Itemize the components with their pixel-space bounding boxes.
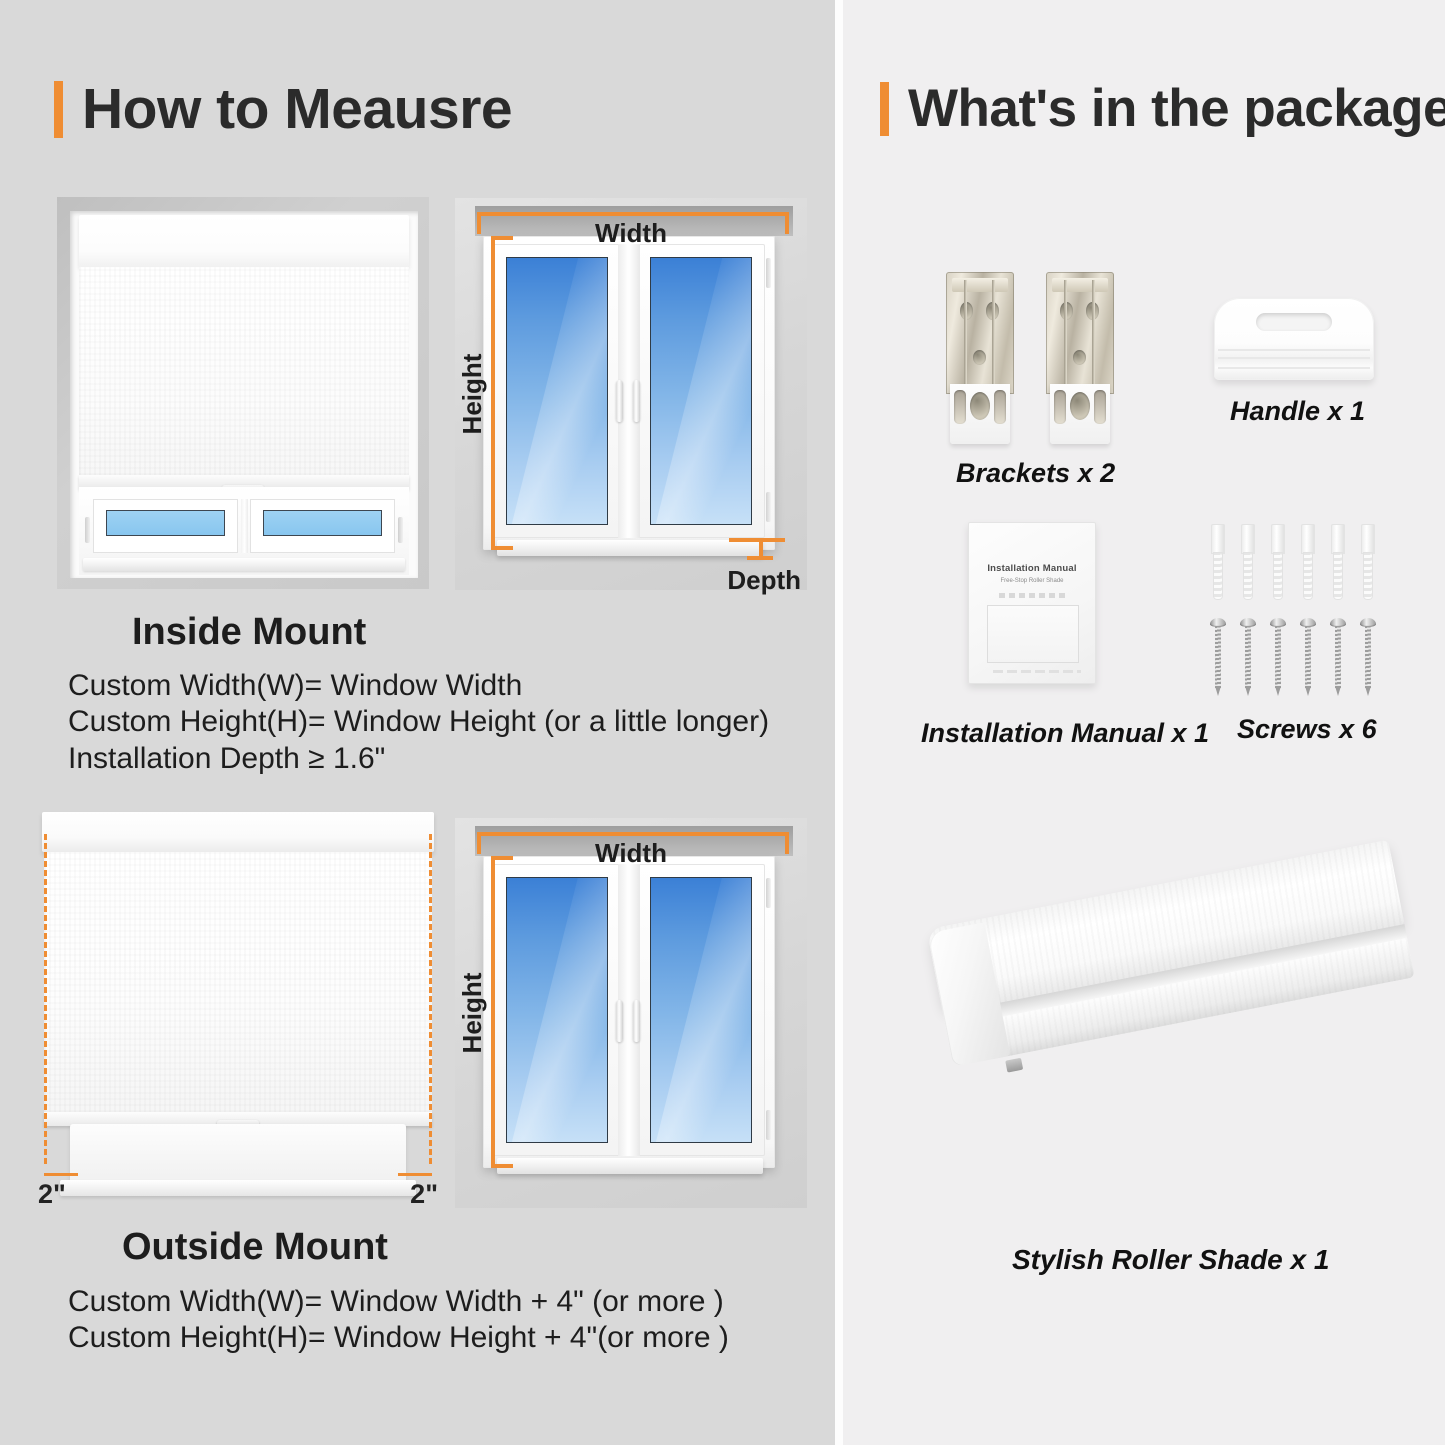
bracket-metal-body	[1046, 272, 1114, 394]
wall-anchor	[1330, 524, 1346, 600]
wall-anchor	[1270, 524, 1286, 600]
window-glass-left	[106, 510, 225, 536]
height-measure-line	[491, 236, 495, 550]
height-label: Height	[457, 354, 488, 435]
height-measure-cap-top	[491, 856, 513, 860]
bracket-hole	[973, 350, 986, 365]
outside-mount-measurement-diagram: Width Height	[455, 818, 807, 1208]
inside-mount-title: Inside Mount	[132, 611, 366, 654]
roller-shade-body	[927, 840, 1417, 1077]
window-sill	[60, 1180, 416, 1196]
overhang-label-right: 2"	[410, 1179, 438, 1210]
inside-mount-measurement-diagram: Width Height Depth	[455, 198, 807, 590]
outside-mount-title: Outside Mount	[122, 1226, 388, 1269]
shade-valance	[79, 215, 409, 267]
depth-label: Depth	[727, 565, 801, 596]
infographic-page: How to Meausre	[0, 0, 1445, 1445]
height-measure-cap-top	[491, 236, 513, 240]
height-measure-cap-bottom	[491, 1164, 513, 1168]
bracket-slot	[1054, 390, 1066, 424]
bracket-rib	[964, 280, 967, 384]
inside-mount-line-1: Custom Width(W)= Window Width	[68, 668, 769, 704]
panel-divider	[835, 0, 843, 1445]
window-sill	[83, 558, 405, 571]
overhang-measure-right	[398, 1173, 432, 1176]
window-hinge-bottom-icon	[766, 492, 771, 522]
width-measure-cap-right	[785, 832, 789, 854]
window-sash-left	[93, 499, 238, 553]
package-heading: What's in the package	[880, 78, 1445, 139]
bracket-slot	[1094, 390, 1106, 424]
brackets-image	[946, 272, 1126, 447]
handle-ridge	[1218, 349, 1370, 351]
window-glass-right	[263, 510, 382, 536]
inside-mount-line-2: Custom Height(H)= Window Height (or a li…	[68, 704, 769, 740]
brackets-label: Brackets x 2	[956, 458, 1115, 489]
screw	[1240, 618, 1256, 696]
window-handle-left[interactable]	[616, 380, 623, 422]
window-hinge-top-icon	[766, 258, 771, 288]
accent-bar-icon	[54, 81, 63, 138]
window-sash-right	[250, 499, 395, 553]
window-glass-left	[506, 877, 608, 1143]
how-to-measure-panel: How to Meausre	[0, 0, 835, 1445]
handle-label: Handle x 1	[1230, 396, 1365, 427]
screws-label: Screws x 6	[1237, 714, 1377, 745]
overhang-guide-left	[44, 834, 47, 1164]
width-label: Width	[595, 838, 667, 869]
bracket-rib	[1064, 280, 1067, 384]
roller-shade-image	[913, 890, 1423, 1190]
bracket-hole	[970, 392, 990, 420]
how-to-measure-heading: How to Meausre	[54, 76, 512, 142]
bracket-metal-body	[946, 272, 1014, 394]
handle-image	[1214, 298, 1374, 380]
accent-bar-icon	[880, 82, 889, 136]
screw	[1360, 618, 1376, 696]
handle-grip-slot	[1256, 313, 1333, 331]
window-sash-right	[637, 244, 765, 538]
package-contents-panel: What's in the package	[843, 0, 1445, 1445]
width-measure-cap-left	[477, 832, 481, 854]
overhang-guide-right	[429, 834, 432, 1164]
bracket-hole	[1073, 350, 1086, 365]
shade-fabric	[79, 267, 409, 487]
manual-cover-subtitle: Free-Stop Roller Shade	[977, 578, 1087, 584]
bracket-slot	[954, 390, 966, 424]
window-behind-shade	[70, 1124, 406, 1186]
height-measure-cap-bottom	[491, 546, 513, 550]
package-title: What's in the package	[908, 78, 1445, 139]
window-handle-right[interactable]	[633, 1000, 640, 1042]
window-glass-left	[506, 257, 608, 525]
bracket-rib	[992, 280, 995, 384]
bracket-plastic-base	[950, 384, 1010, 444]
wall-anchor	[1210, 524, 1226, 600]
manual-cover-diagram	[987, 605, 1079, 663]
inside-mount-shade-illustration	[57, 197, 429, 589]
screw	[1270, 618, 1286, 696]
outside-mount-shade-illustration: 2" 2"	[36, 812, 440, 1204]
manual-cover: Installation Manual Free-Stop Roller Sha…	[968, 522, 1096, 684]
bracket-slot	[994, 390, 1006, 424]
window-sash-left	[493, 864, 621, 1156]
bracket-plastic-base	[1050, 384, 1110, 444]
inside-mount-line-3: Installation Depth ≥ 1.6"	[68, 741, 769, 777]
outside-mount-line-1: Custom Width(W)= Window Width + 4" (or m…	[68, 1284, 729, 1320]
window-hinge-right-icon	[398, 517, 403, 543]
window-hinge-bottom-icon	[766, 1110, 771, 1140]
shade-fabric	[44, 852, 432, 1118]
screw	[1300, 618, 1316, 696]
depth-measure-line	[729, 538, 785, 542]
installation-manual-image: Installation Manual Free-Stop Roller Sha…	[968, 522, 1096, 684]
window-hinge-left-icon	[85, 517, 90, 543]
manual-cover-title: Installation Manual	[977, 563, 1087, 574]
depth-measure-stem	[759, 538, 763, 558]
window-sash-left	[493, 244, 621, 538]
installation-manual-label: Installation Manual x 1	[921, 718, 1209, 749]
window-sash-right	[637, 864, 765, 1156]
window-frame	[483, 856, 775, 1168]
height-measure-line	[491, 856, 495, 1168]
window-glass-right	[650, 257, 752, 525]
manual-cover-footer-line	[993, 670, 1081, 673]
bracket-rib	[1092, 280, 1095, 384]
roller-shade-pin	[1005, 1058, 1023, 1073]
shade-headrail	[42, 812, 434, 852]
window-hinge-top-icon	[766, 878, 771, 908]
roller-shade-label: Stylish Roller Shade x 1	[1012, 1244, 1329, 1276]
screw	[1210, 618, 1226, 696]
window-frame	[483, 236, 775, 550]
bracket-hole	[1070, 392, 1090, 420]
handle-ridge	[1218, 357, 1370, 359]
outside-mount-text-block: Custom Width(W)= Window Width + 4" (or m…	[68, 1284, 729, 1357]
manual-cover-sketch-line	[999, 593, 1065, 598]
wall-anchor	[1360, 524, 1376, 600]
width-measure-cap-left	[477, 212, 481, 234]
width-label: Width	[595, 218, 667, 249]
window-lower-section	[79, 487, 409, 575]
window-handle-left[interactable]	[616, 1000, 623, 1042]
window-mullion	[241, 499, 248, 553]
inside-mount-text-block: Custom Width(W)= Window Width Custom Hei…	[68, 668, 769, 777]
window-sill	[497, 540, 763, 556]
window-glass-right	[650, 877, 752, 1143]
width-measure-cap-right	[785, 212, 789, 234]
depth-measure-cap	[747, 556, 773, 560]
outside-mount-line-2: Custom Height(H)= Window Height + 4"(or …	[68, 1320, 729, 1356]
width-measure-line	[477, 832, 789, 836]
window-sill	[497, 1158, 763, 1174]
handle-ridge	[1218, 367, 1370, 369]
wall-anchor	[1240, 524, 1256, 600]
overhang-measure-left	[44, 1173, 78, 1176]
handle-body	[1214, 298, 1374, 380]
wall-anchor	[1300, 524, 1316, 600]
overhang-label-left: 2"	[38, 1179, 66, 1210]
screw	[1330, 618, 1346, 696]
height-label: Height	[457, 973, 488, 1054]
screws-image	[1210, 524, 1390, 696]
page-title: How to Meausre	[82, 76, 512, 142]
window-handle-right[interactable]	[633, 380, 640, 422]
width-measure-line	[477, 212, 789, 216]
